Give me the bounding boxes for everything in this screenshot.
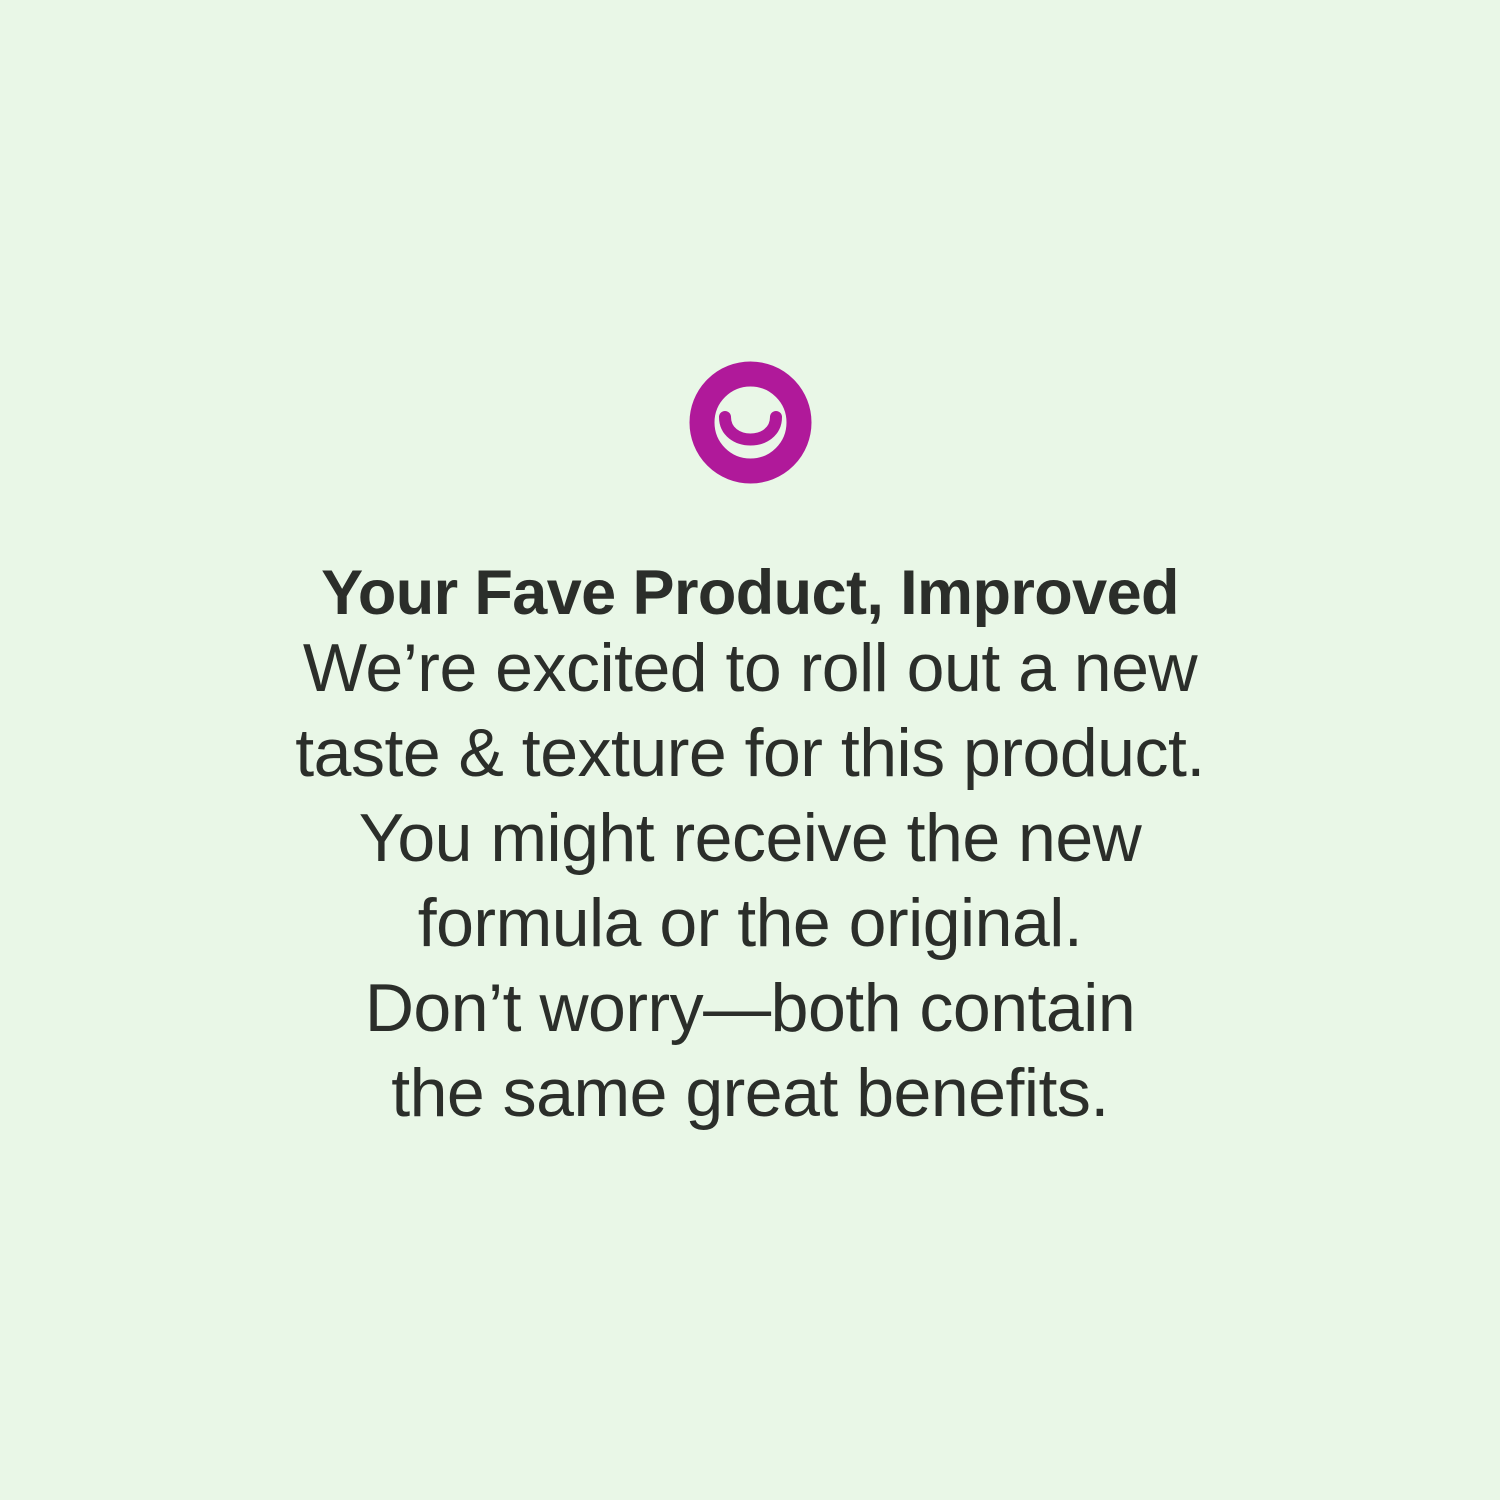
body-line: Don’t worry—both contain [60,966,1440,1051]
body-line: You might receive the new [60,796,1440,881]
logo-container [0,361,1500,484]
product-announcement-card: Your Fave Product, Improved We’re excite… [0,0,1500,1500]
smiley-face-logo-icon [689,361,812,484]
body-paragraph: We’re excited to roll out a new taste & … [0,626,1500,1136]
page-title: Your Fave Product, Improved [0,556,1500,630]
body-line: formula or the original. [60,881,1440,966]
body-line: taste & texture for this product. [60,711,1440,796]
body-line: We’re excited to roll out a new [60,626,1440,711]
body-line: the same great benefits. [60,1051,1440,1136]
